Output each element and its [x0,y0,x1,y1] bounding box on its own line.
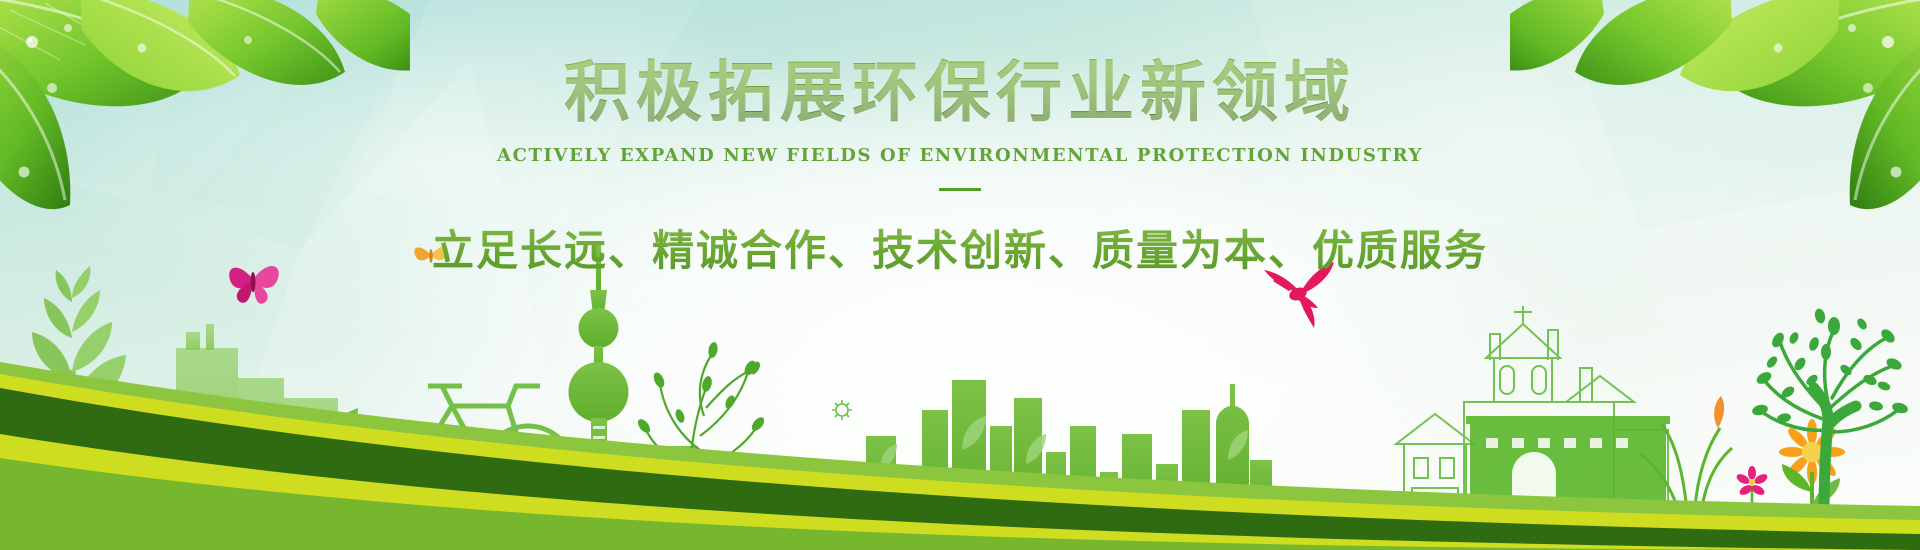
page-title: 积极拓展环保行业新领域 [0,56,1920,129]
company-slogan: 立足长远、精诚合作、技术创新、质量为本、优质服务 [0,217,1920,278]
cattail-icon [1714,396,1724,428]
white-flower-icon [832,400,852,420]
eco-banner: 积极拓展环保行业新领域 ACTIVELY EXPAND NEW FIELDS O… [0,0,1920,550]
banner-text-block: 积极拓展环保行业新领域 ACTIVELY EXPAND NEW FIELDS O… [0,56,1920,278]
subtitle-english: ACTIVELY EXPAND NEW FIELDS OF ENVIRONMEN… [0,145,1920,166]
title-divider [939,188,981,191]
